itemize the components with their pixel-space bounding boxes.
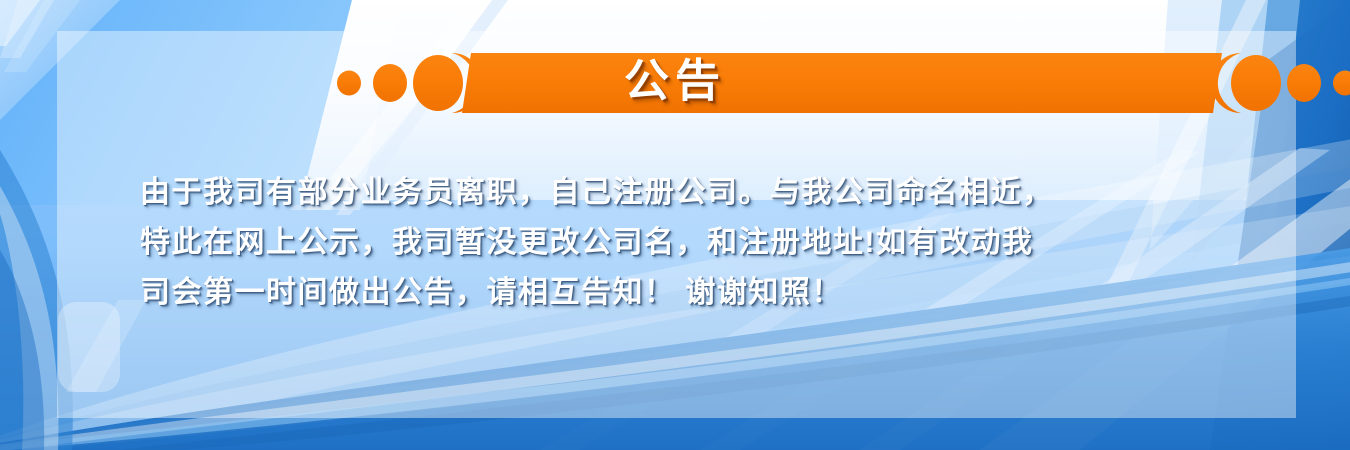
page-title: 公告 (0, 50, 1350, 112)
announcement-text: 由于我司有部分业务员离职，自己注册公司。与我公司命名相近， 特此在网上公示，我司… (140, 168, 1225, 318)
announcement-line: 特此在网上公示，我司暂没更改公司名，和注册地址!如有改动我 (140, 218, 1225, 268)
header-band: 公告 (0, 50, 1350, 116)
announcement-line: 司会第一时间做出公告，请相互告知！ 谢谢知照！ (140, 268, 1225, 318)
announcement-line: 由于我司有部分业务员离职，自己注册公司。与我公司命名相近， (140, 168, 1225, 218)
announcement-banner: 公告 由于我司有部分业务员离职，自己注册公司。与我公司命名相近， 特此在网上公示… (0, 0, 1350, 450)
